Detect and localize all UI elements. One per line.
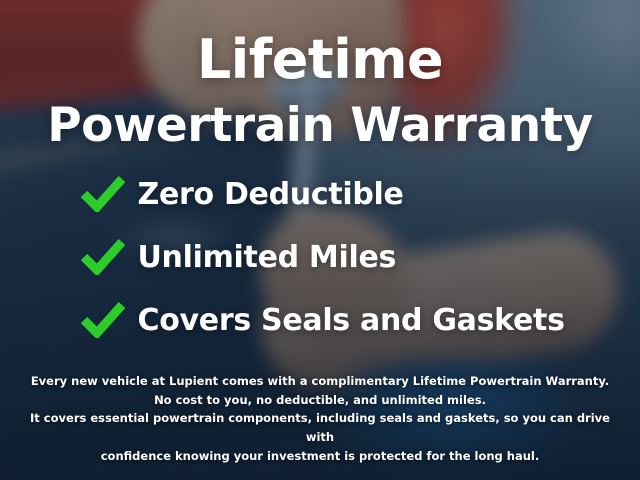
- description-line-1: Every new vehicle at Lupient comes with …: [27, 372, 613, 391]
- feature-label: Unlimited Miles: [138, 240, 397, 275]
- description-line-3: It covers essential powertrain component…: [27, 409, 613, 446]
- description-line-2: No cost to you, no deductible, and unlim…: [27, 391, 613, 410]
- check-icon: [68, 176, 138, 212]
- description-line-4: confidence knowing your investment is pr…: [27, 447, 613, 466]
- headline-line-2: Powertrain Warranty: [47, 102, 593, 149]
- feature-item-zero-deductible: Zero Deductible: [68, 176, 573, 212]
- feature-item-covers-seals-and-gaskets: Covers Seals and Gaskets: [68, 302, 573, 338]
- feature-label: Covers Seals and Gaskets: [138, 303, 565, 338]
- warranty-banner: Lifetime Powertrain Warranty Zero Deduct…: [0, 0, 640, 480]
- headline-line-1: Lifetime: [197, 33, 443, 87]
- check-icon: [68, 239, 138, 275]
- feature-list: Zero Deductible Unlimited Miles Covers S…: [0, 176, 640, 338]
- feature-label: Zero Deductible: [138, 177, 404, 212]
- feature-item-unlimited-miles: Unlimited Miles: [68, 239, 573, 275]
- banner-content: Lifetime Powertrain Warranty Zero Deduct…: [0, 0, 640, 480]
- check-icon: [68, 302, 138, 338]
- description-paragraph: Every new vehicle at Lupient comes with …: [27, 372, 613, 465]
